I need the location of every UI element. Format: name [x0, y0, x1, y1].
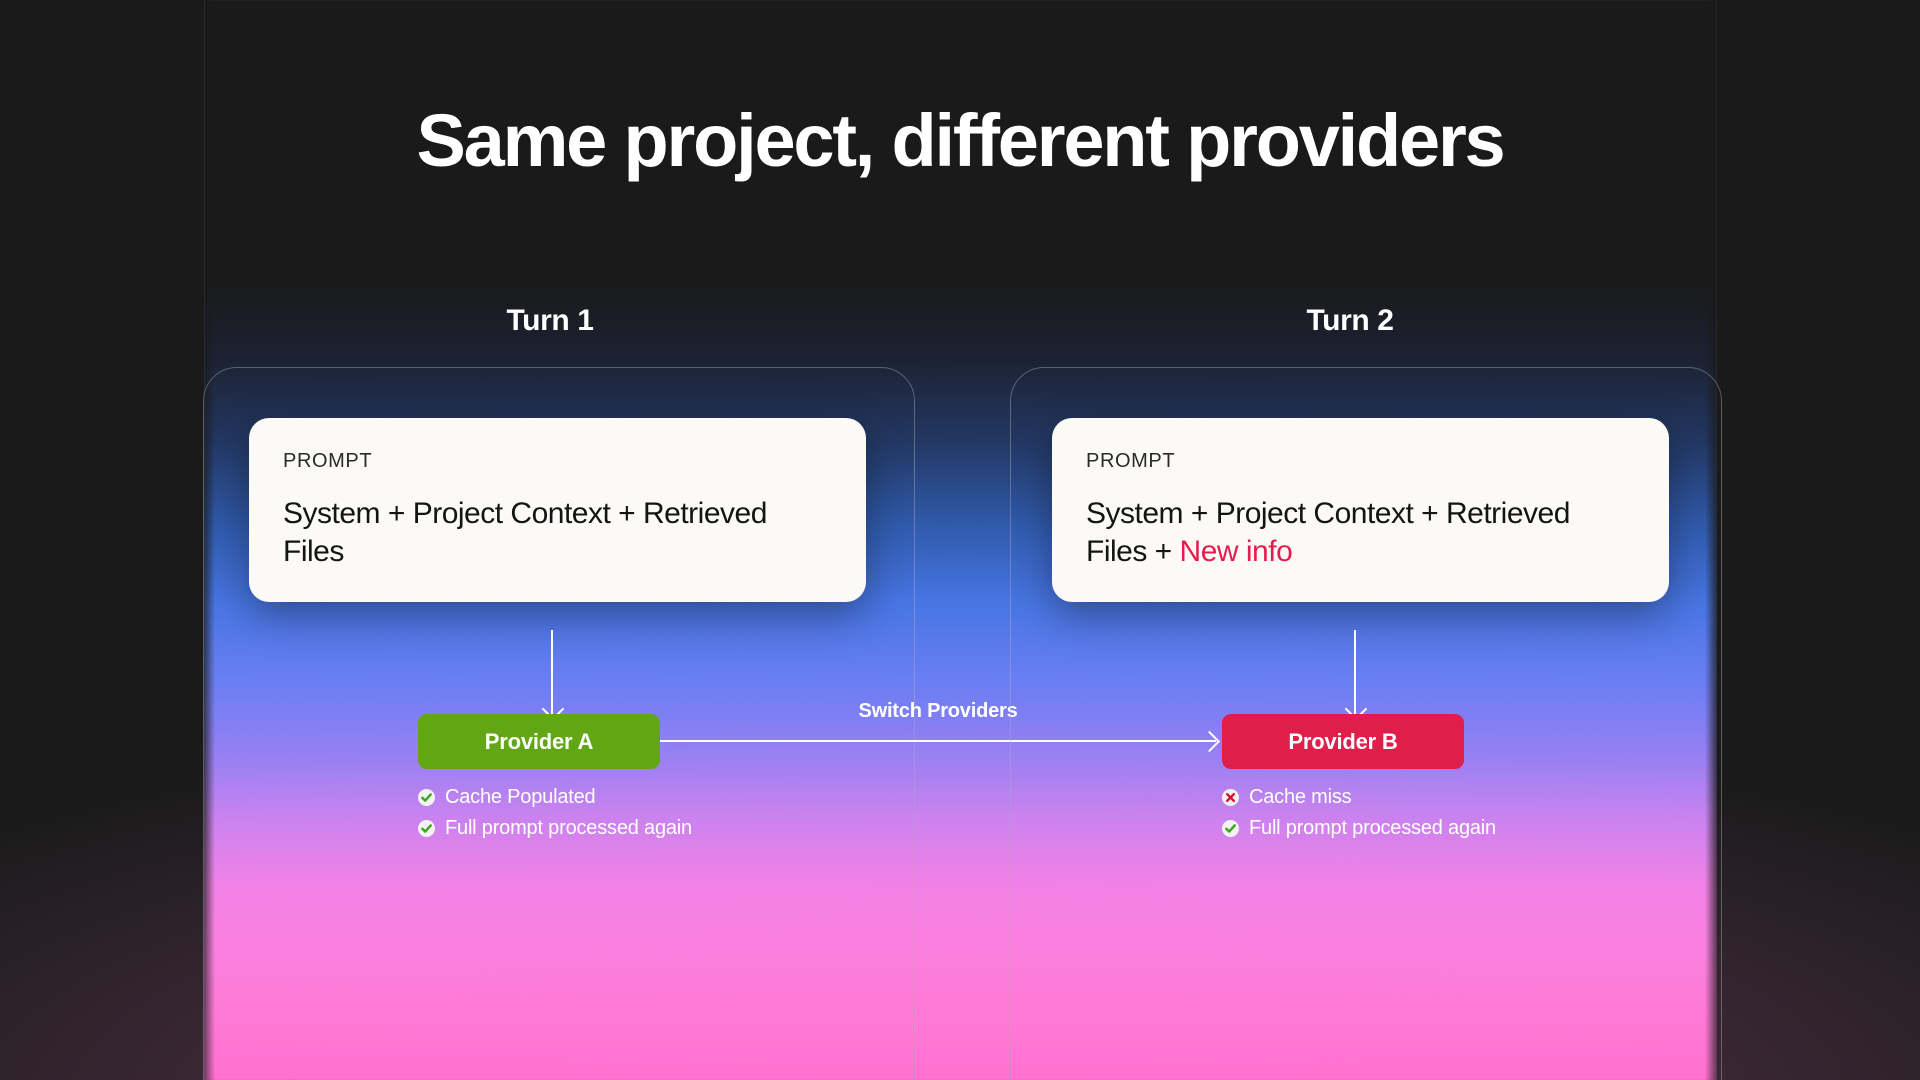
- result-item: Cache Populated: [418, 785, 692, 809]
- page-title: Same project, different providers: [0, 104, 1920, 178]
- prompt-body-turn-2: System + Project Context + Retrieved Fil…: [1086, 495, 1635, 572]
- provider-a-label: Provider A: [485, 729, 593, 755]
- prompt-card-turn-1: PROMPT System + Project Context + Retrie…: [249, 418, 866, 602]
- turn-2-label: Turn 2: [1200, 304, 1500, 338]
- result-text: Full prompt processed again: [445, 816, 692, 840]
- prompt-highlight-new-info: New info: [1180, 535, 1293, 568]
- prompt-card-turn-2: PROMPT System + Project Context + Retrie…: [1052, 418, 1669, 602]
- check-circle-icon: [418, 820, 435, 837]
- prompt-text-turn-2: System + Project Context + Retrieved Fil…: [1086, 497, 1570, 568]
- prompt-body-turn-1: System + Project Context + Retrieved Fil…: [283, 495, 832, 572]
- x-circle-icon: [1222, 789, 1239, 806]
- result-item: Full prompt processed again: [418, 816, 692, 840]
- provider-a-button[interactable]: Provider A: [418, 714, 660, 769]
- result-text: Cache Populated: [445, 785, 595, 809]
- check-circle-icon: [418, 789, 435, 806]
- prompt-text-turn-1: System + Project Context + Retrieved Fil…: [283, 497, 767, 568]
- arrow-prompt-to-provider-b: [1354, 630, 1356, 716]
- arrow-prompt-to-provider-a: [551, 630, 553, 716]
- prompt-kicker-turn-2: PROMPT: [1086, 450, 1635, 473]
- provider-b-button[interactable]: Provider B: [1222, 714, 1464, 769]
- results-turn-2: Cache miss Full prompt processed again: [1222, 785, 1496, 847]
- result-text: Full prompt processed again: [1249, 816, 1496, 840]
- turn-1-label: Turn 1: [400, 304, 700, 338]
- result-item: Full prompt processed again: [1222, 816, 1496, 840]
- result-item: Cache miss: [1222, 785, 1496, 809]
- provider-b-label: Provider B: [1288, 729, 1397, 755]
- prompt-kicker-turn-1: PROMPT: [283, 450, 832, 473]
- check-circle-icon: [1222, 820, 1239, 837]
- diagram-canvas: Same project, different providers Turn 1…: [0, 0, 1920, 1080]
- results-turn-1: Cache Populated Full prompt processed ag…: [418, 785, 692, 847]
- result-text: Cache miss: [1249, 785, 1351, 809]
